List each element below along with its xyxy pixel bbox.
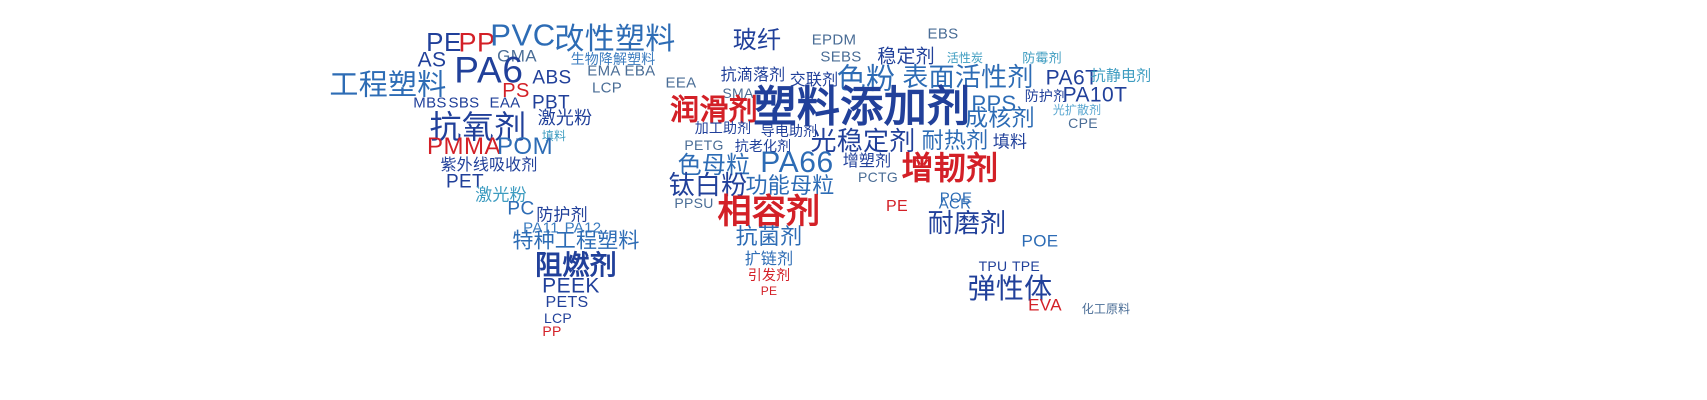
word-cloud-term[interactable]: PE	[761, 285, 778, 297]
word-cloud-term[interactable]: 抗滴落剂	[721, 67, 786, 83]
word-cloud-term[interactable]: 耐磨剂	[928, 211, 1007, 237]
word-cloud-term[interactable]: TPE	[1012, 259, 1040, 273]
word-cloud-term[interactable]: PP	[542, 324, 561, 338]
word-cloud-term[interactable]: CPE	[1068, 116, 1098, 130]
word-cloud-term[interactable]: PETG	[684, 138, 723, 152]
word-cloud-term[interactable]: 激光粉	[538, 110, 593, 128]
word-cloud: PEPPPVCGMA改性塑料生物降解塑料玻纤EPDMEBSASPA6ABSEMA…	[0, 0, 1707, 400]
word-cloud-term[interactable]: 相容剂	[717, 195, 820, 229]
word-cloud-term[interactable]: 抗菌剂	[736, 227, 803, 249]
word-cloud-term[interactable]: EVA	[1028, 297, 1062, 314]
word-cloud-term[interactable]: 玻纤	[733, 28, 781, 52]
word-cloud-term[interactable]: PPSU	[674, 196, 713, 210]
word-cloud-term[interactable]: 成核剂	[965, 108, 1035, 131]
word-cloud-term[interactable]: EMA	[587, 64, 620, 79]
word-cloud-term[interactable]: EEA	[666, 76, 697, 91]
word-cloud-term[interactable]: 增韧剂	[902, 152, 999, 184]
word-cloud-term[interactable]: 引发剂	[748, 269, 790, 283]
word-cloud-term[interactable]: 加工助剂	[695, 122, 752, 136]
word-cloud-term[interactable]: EBA	[625, 64, 656, 79]
word-cloud-term[interactable]: 防护剂	[1025, 90, 1067, 104]
word-cloud-term[interactable]: 增塑剂	[843, 153, 891, 169]
word-cloud-term[interactable]: EBS	[928, 27, 959, 42]
word-cloud-term[interactable]: 抗静电剂	[1091, 69, 1152, 84]
word-cloud-term[interactable]: 改性塑料	[554, 25, 675, 55]
word-cloud-term[interactable]: 导电助剂	[761, 125, 818, 139]
word-cloud-term[interactable]: LCP	[592, 81, 622, 96]
word-cloud-term[interactable]: PC	[507, 200, 534, 219]
word-cloud-term[interactable]: 化工原料	[1082, 303, 1130, 315]
word-cloud-term[interactable]: 扩链剂	[745, 251, 793, 267]
word-cloud-term[interactable]: TPU	[979, 259, 1008, 273]
word-cloud-term[interactable]: PCTG	[858, 170, 898, 184]
word-cloud-term[interactable]: ABS	[532, 69, 571, 88]
word-cloud-term[interactable]: 特种工程塑料	[512, 231, 639, 252]
word-cloud-term[interactable]: POE	[1022, 233, 1059, 250]
word-cloud-term[interactable]: PE	[886, 199, 908, 215]
word-cloud-term[interactable]: PETS	[545, 295, 588, 311]
word-cloud-term[interactable]: EPDM	[812, 33, 857, 48]
word-cloud-term[interactable]: 防霉剂	[1022, 53, 1061, 66]
